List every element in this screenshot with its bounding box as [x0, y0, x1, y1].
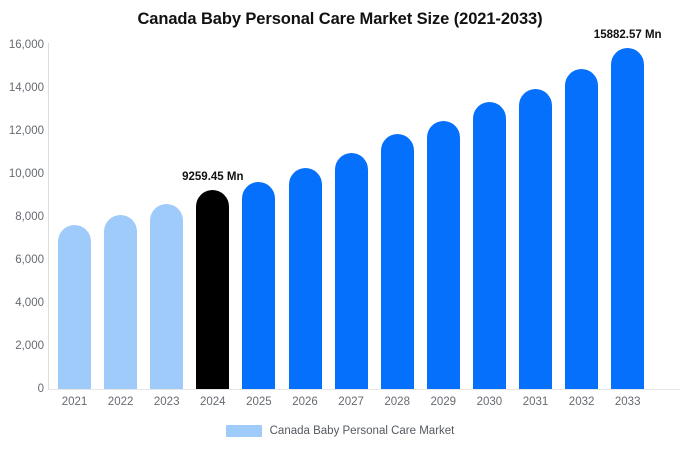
- bar-value-label-2033: 15882.57 Mn: [580, 29, 676, 41]
- x-axis-tick-2033: 2033: [598, 396, 658, 408]
- y-axis-tick-14000: 14,000: [2, 82, 44, 94]
- y-axis-tick-labels: 02,0004,0006,0008,00010,00012,00014,0001…: [0, 0, 44, 450]
- bar-fill-2031: [519, 89, 552, 389]
- bar-2024[interactable]: [196, 190, 229, 389]
- y-axis-tick-4000: 4,000: [2, 297, 44, 309]
- legend-swatch-icon: [226, 425, 262, 437]
- bar-2021[interactable]: [58, 225, 91, 389]
- legend-label: Canada Baby Personal Care Market: [270, 425, 455, 437]
- y-axis-tick-0: 0: [2, 383, 44, 395]
- x-axis-line: [48, 389, 680, 390]
- bar-2025[interactable]: [242, 182, 275, 389]
- bar-2022[interactable]: [104, 215, 137, 389]
- bar-2031[interactable]: [519, 89, 552, 389]
- y-axis-tick-6000: 6,000: [2, 254, 44, 266]
- bar-2032[interactable]: [565, 69, 598, 389]
- bar-fill-2022: [104, 215, 137, 389]
- y-axis-tick-16000: 16,000: [2, 39, 44, 51]
- bar-2028[interactable]: [381, 134, 414, 389]
- y-axis-tick-12000: 12,000: [2, 125, 44, 137]
- bar-fill-2021: [58, 225, 91, 389]
- bar-fill-2023: [150, 204, 183, 389]
- bar-2027[interactable]: [335, 153, 368, 389]
- bar-fill-2024: [196, 190, 229, 389]
- bar-2033[interactable]: [611, 48, 644, 389]
- bar-fill-2030: [473, 102, 506, 389]
- bar-fill-2027: [335, 153, 368, 389]
- bar-value-label-2024: 9259.45 Mn: [165, 171, 261, 183]
- y-axis-tick-2000: 2,000: [2, 340, 44, 352]
- bar-fill-2029: [427, 121, 460, 389]
- y-axis-tick-10000: 10,000: [2, 168, 44, 180]
- bar-2030[interactable]: [473, 102, 506, 389]
- bar-fill-2033: [611, 48, 644, 389]
- bar-fill-2026: [289, 168, 322, 389]
- bar-fill-2028: [381, 134, 414, 389]
- bar-2029[interactable]: [427, 121, 460, 389]
- chart-title: Canada Baby Personal Care Market Size (2…: [0, 10, 680, 29]
- y-axis-tick-8000: 8,000: [2, 211, 44, 223]
- bar-fill-2032: [565, 69, 598, 389]
- bar-2023[interactable]: [150, 204, 183, 389]
- bar-fill-2025: [242, 182, 275, 389]
- chart-legend: Canada Baby Personal Care Market: [0, 425, 680, 437]
- bar-2026[interactable]: [289, 168, 322, 389]
- bar-chart: Canada Baby Personal Care Market Size (2…: [0, 0, 680, 450]
